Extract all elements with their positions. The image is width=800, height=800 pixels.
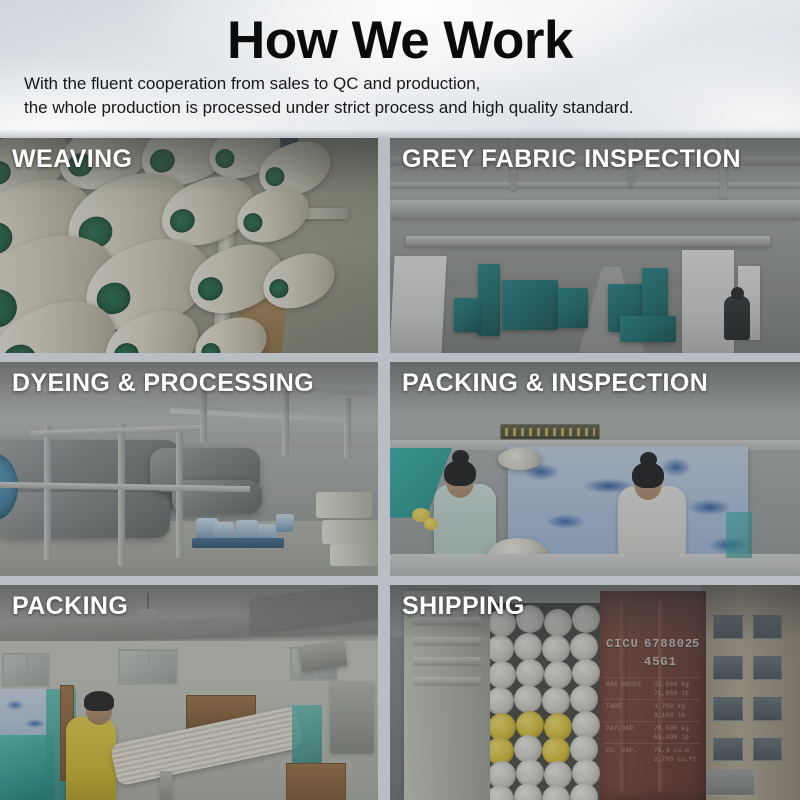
plate-metric-1: 3,700 kg [654,703,685,710]
container-serial: 678802 [644,637,693,651]
subtitle-line-2: the whole production is processed under … [24,96,780,120]
process-card-shipping[interactable]: CICU 678802 5 45G1 MAX GROSS 32,500 kg 7… [390,585,800,800]
plate-label-2: PAYLOAD [606,725,633,732]
process-card-packing[interactable]: PACKING [0,585,378,800]
plate-metric-2: 28,800 kg [654,725,689,732]
how-we-work-page: How We Work With the fluent cooperation … [0,0,800,800]
process-card-weaving[interactable]: WEAVING [0,138,378,353]
packing-worker [66,717,116,800]
process-label-grey-fabric: GREY FABRIC INSPECTION [402,144,741,174]
page-title: How We Work [0,14,800,67]
container-door-open [404,591,490,800]
plate-imperial-3: 2,700 cu.ft [654,756,697,763]
plate-imperial-2: 63,490 lb [654,734,689,741]
process-label-packing-inspection: PACKING & INSPECTION [402,368,708,398]
container-cargo [490,603,600,800]
container-check-digit: 5 [692,637,700,651]
page-header: How We Work With the fluent cooperation … [0,0,800,138]
background-building [702,585,800,800]
process-label-packing: PACKING [12,591,128,621]
process-card-dyeing-processing[interactable]: DYEING & PROCESSING [0,362,378,577]
container-owner-code: CICU [606,637,639,651]
plate-metric-3: 76.4 cu.m [654,747,689,754]
plate-label-0: MAX GROSS [606,681,641,688]
process-card-grey-fabric[interactable]: GREY FABRIC INSPECTION [390,138,800,353]
process-label-shipping: SHIPPING [402,591,525,621]
plate-label-3: CU. CAP. [606,747,637,754]
process-card-packing-inspection[interactable]: PACKING & INSPECTION [390,362,800,577]
page-subtitle: With the fluent cooperation from sales t… [24,72,780,120]
plate-label-1: TARE [606,703,622,710]
container-door-closed: CICU 678802 5 45G1 MAX GROSS 32,500 kg 7… [600,591,706,800]
plate-imperial-1: 8,160 lb [654,712,685,719]
subtitle-line-1: With the fluent cooperation from sales t… [24,72,780,96]
process-label-dyeing-processing: DYEING & PROCESSING [12,368,314,398]
process-grid: WEAVING [0,138,800,800]
process-label-weaving: WEAVING [12,144,132,174]
container-size-type: 45G1 [644,655,677,669]
plate-imperial-0: 71,650 lb [654,690,689,697]
plate-metric-0: 32,500 kg [654,681,689,688]
